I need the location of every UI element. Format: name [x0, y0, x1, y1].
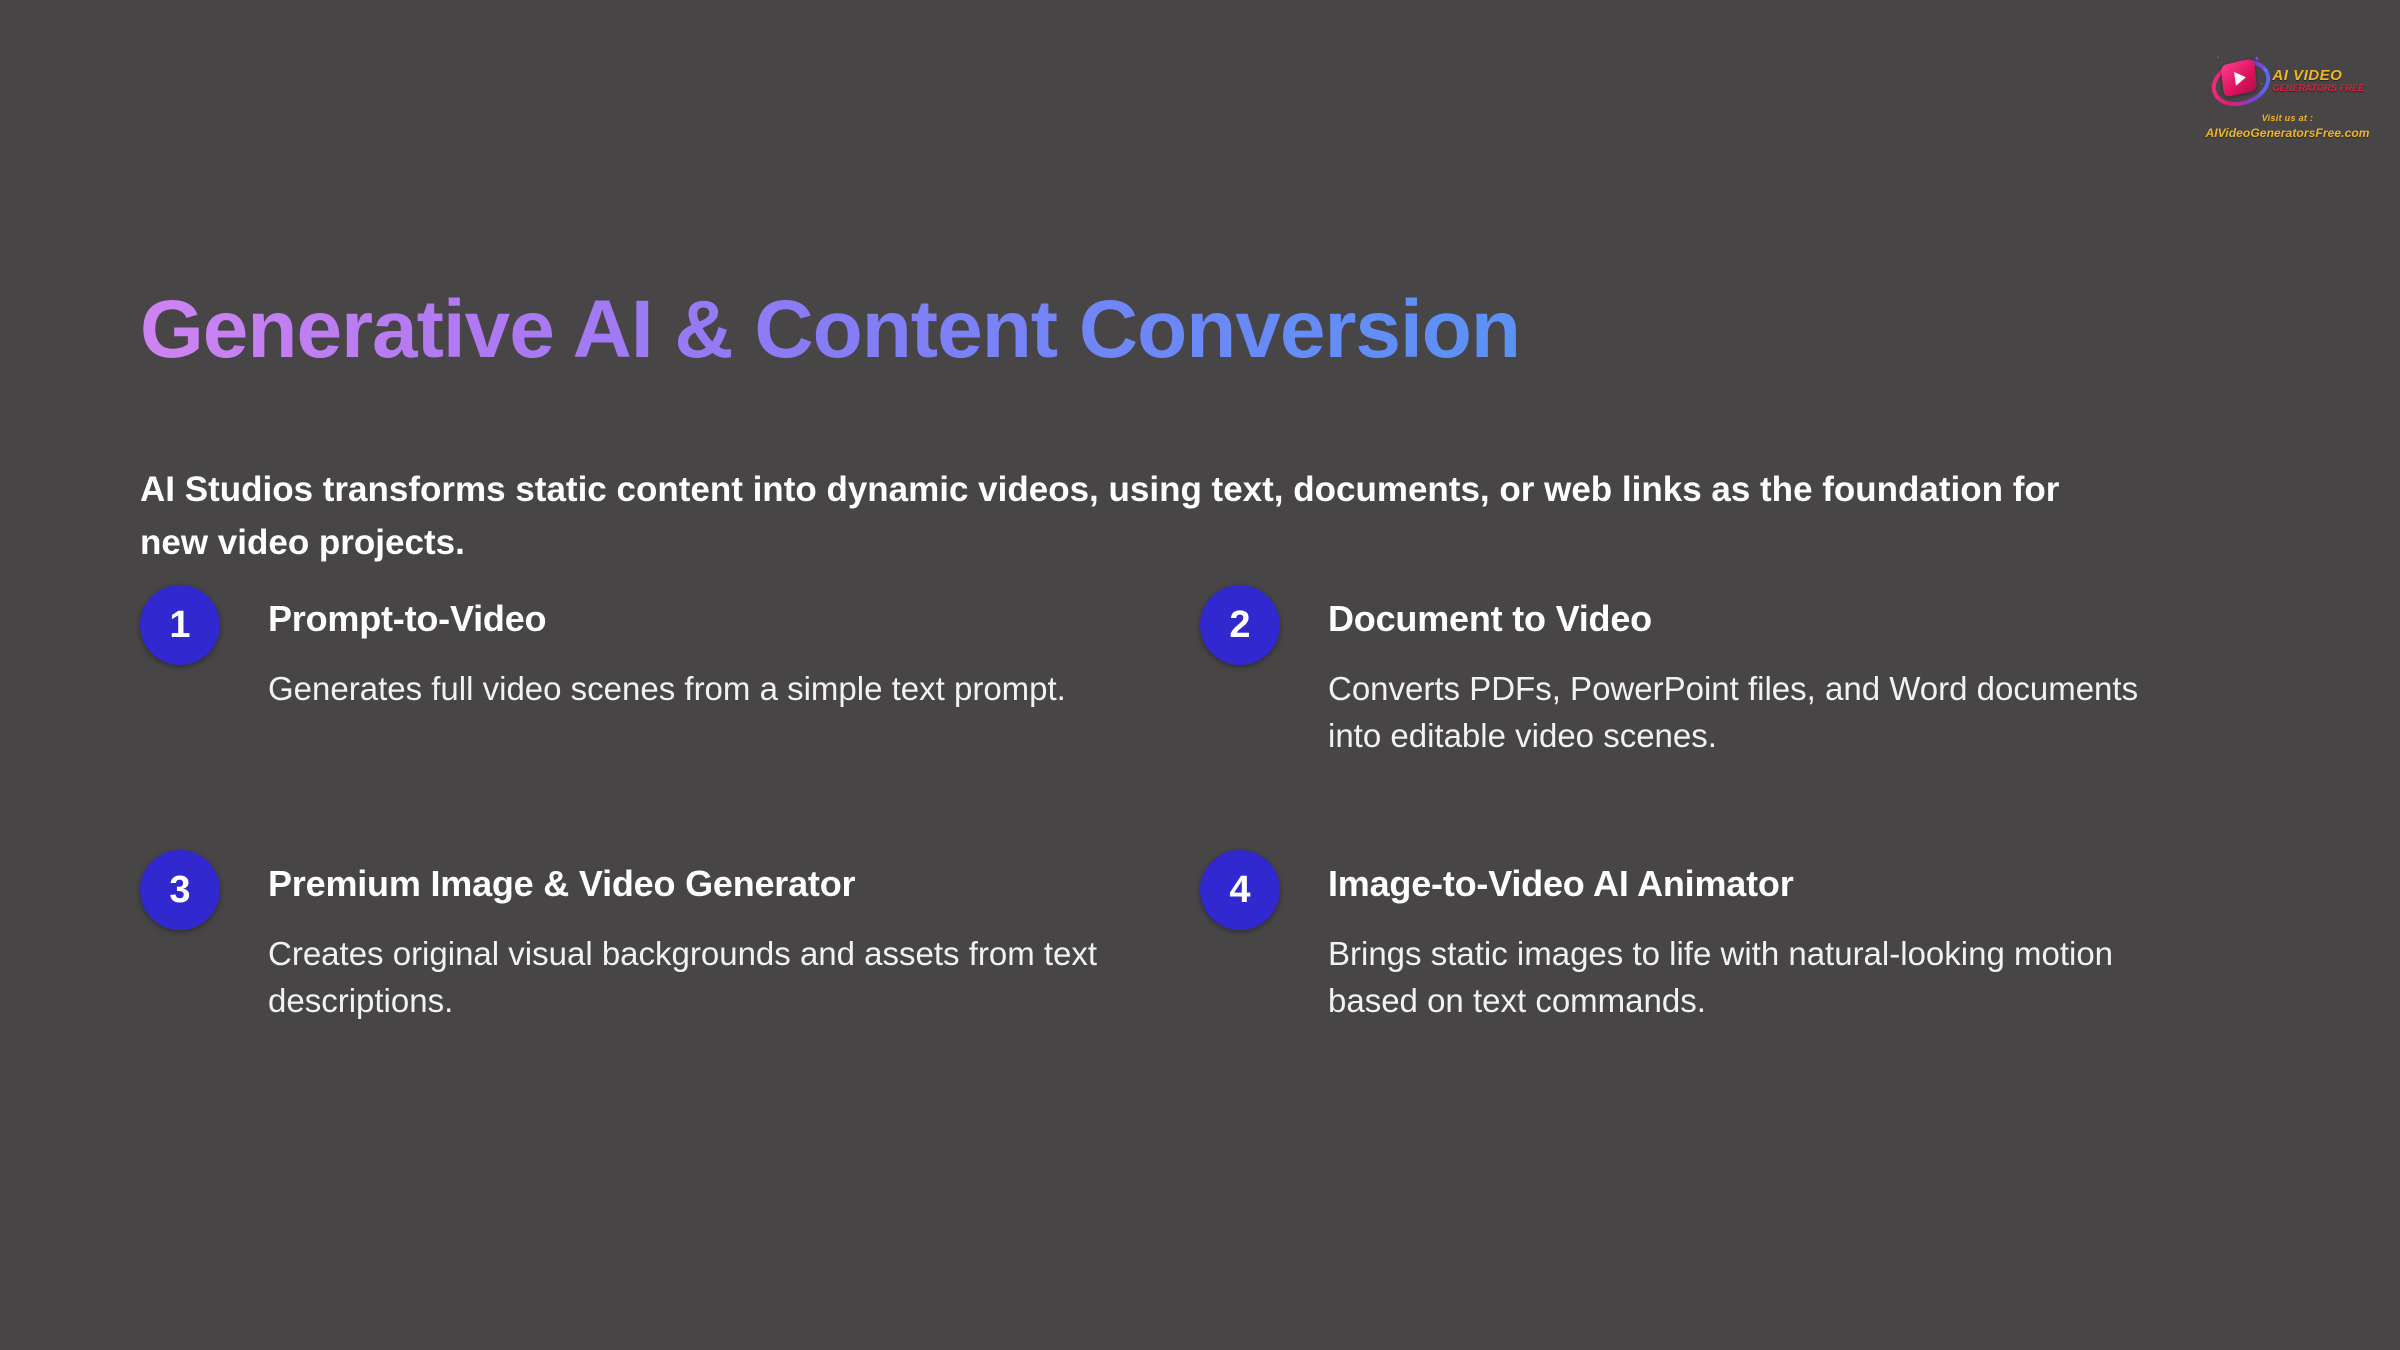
watermark-brand-line1: AI VIDEO: [2272, 68, 2364, 83]
play-button-logo-icon: [2210, 54, 2268, 106]
feature-item-1: 1 Prompt-to-Video Generates full video s…: [140, 585, 1200, 760]
watermark-wordmark: AI VIDEO GENERATORS FREE: [2272, 68, 2364, 93]
feature-number-badge-3: 3: [140, 850, 220, 930]
watermark-url: AIVideoGeneratorsFree.com: [2195, 126, 2380, 140]
feature-item-4: 4 Image-to-Video AI Animator Brings stat…: [1200, 850, 2240, 1025]
watermark-logo-row: AI VIDEO GENERATORS FREE: [2195, 52, 2380, 108]
feature-description-4: Brings static images to life with natura…: [1328, 931, 2188, 1025]
feature-description-2: Converts PDFs, PowerPoint files, and Wor…: [1328, 666, 2188, 760]
feature-description-3: Creates original visual backgrounds and …: [268, 931, 1128, 1025]
feature-title-3: Premium Image & Video Generator: [268, 862, 1200, 905]
sparkle-icon: [2216, 56, 2219, 59]
feature-grid: 1 Prompt-to-Video Generates full video s…: [140, 585, 2240, 1025]
feature-item-2: 2 Document to Video Converts PDFs, Power…: [1200, 585, 2240, 760]
feature-title-1: Prompt-to-Video: [268, 597, 1200, 640]
presentation-slide: AI VIDEO GENERATORS FREE Visit us at : A…: [0, 0, 2400, 1350]
watermark-brand-line2: GENERATORS FREE: [2272, 84, 2364, 93]
feature-item-3: 3 Premium Image & Video Generator Create…: [140, 850, 1200, 1025]
feature-title-4: Image-to-Video AI Animator: [1328, 862, 2240, 905]
watermark-branding: AI VIDEO GENERATORS FREE Visit us at : A…: [2195, 52, 2380, 140]
feature-number-badge-4: 4: [1200, 850, 1280, 930]
feature-title-2: Document to Video: [1328, 597, 2240, 640]
feature-number-badge-1: 1: [140, 585, 220, 665]
slide-headline: Generative AI & Content Conversion: [140, 287, 1520, 373]
logo-play-triangle-icon: [2234, 70, 2247, 85]
feature-description-1: Generates full video scenes from a simpl…: [268, 666, 1128, 713]
watermark-visit-label: Visit us at :: [2195, 113, 2380, 123]
feature-number-badge-2: 2: [1200, 585, 1280, 665]
slide-intro-paragraph: AI Studios transforms static content int…: [140, 463, 2060, 569]
